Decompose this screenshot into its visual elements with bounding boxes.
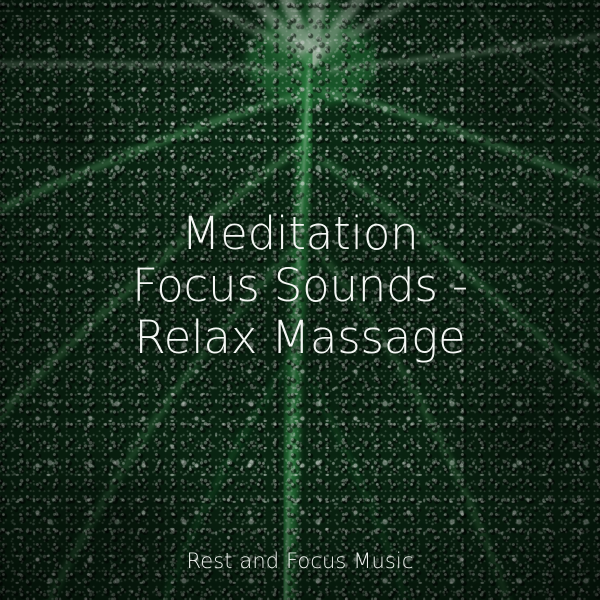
cover-content: Meditation Focus Sounds - Relax Massage … [0, 0, 600, 600]
album-cover: Meditation Focus Sounds - Relax Massage … [0, 0, 600, 600]
artist-name: Rest and Focus Music [0, 548, 600, 574]
album-title: Meditation Focus Sounds - Relax Massage [0, 208, 600, 364]
